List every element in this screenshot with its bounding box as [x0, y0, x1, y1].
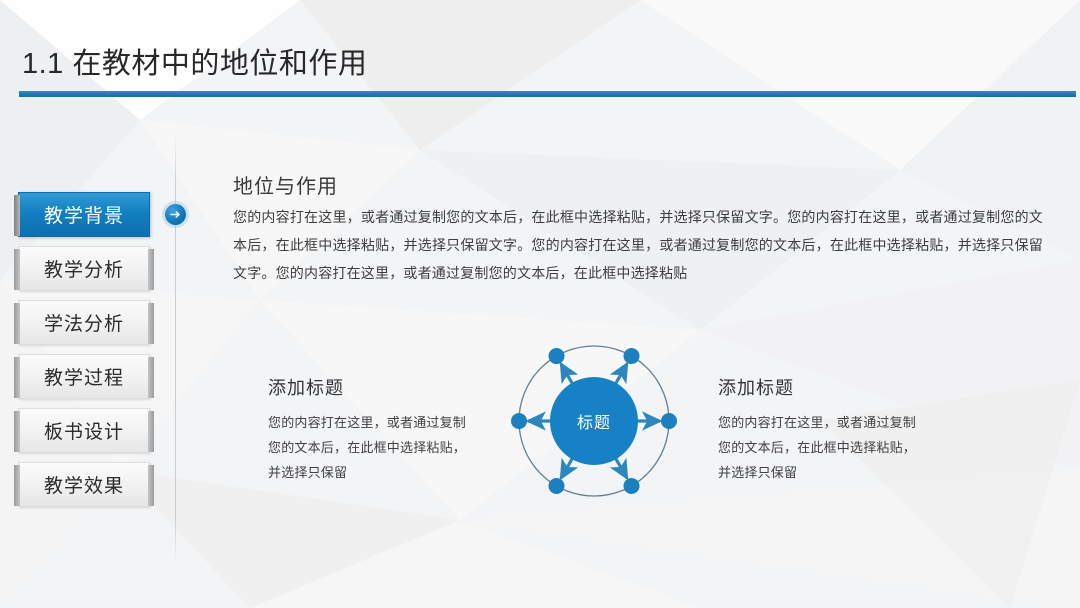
side-block-left: 添加标题 您的内容打在这里，或者通过复制您的文本后，在此框中选择粘贴，并选择只保… — [268, 374, 473, 485]
sidebar-item-blackboard-design[interactable]: 板书设计 — [18, 408, 150, 453]
title-underline-rule — [19, 91, 1076, 97]
sidebar-item-teaching-effect[interactable]: 教学效果 — [18, 462, 150, 507]
side-block-right-title: 添加标题 — [718, 374, 923, 400]
slide-canvas: 1.1 在教材中的地位和作用 教学背景 教学分析 学法分析 教学过程 板书设计 … — [0, 0, 1080, 608]
node-dot-120 — [549, 348, 565, 364]
node-dot-60 — [624, 348, 640, 364]
sidebar-item-teaching-background[interactable]: 教学背景 — [18, 192, 150, 237]
side-block-left-title: 添加标题 — [268, 374, 473, 400]
sidebar-item-label: 教学过程 — [44, 363, 124, 390]
node-dot-240 — [549, 478, 565, 494]
sidebar-item-teaching-process[interactable]: 教学过程 — [18, 354, 150, 399]
sidebar-item-label: 教学效果 — [44, 471, 124, 498]
hub-spoke-diagram-svg — [494, 321, 694, 521]
sidebar-item-label: 学法分析 — [44, 309, 124, 336]
sidebar-item-label: 教学分析 — [44, 255, 124, 282]
sidebar-item-learning-method-analysis[interactable]: 学法分析 — [18, 300, 150, 345]
node-dot-180 — [511, 413, 527, 429]
node-dot-300 — [624, 478, 640, 494]
side-block-right: 添加标题 您的内容打在这里，或者通过复制您的文本后，在此框中选择粘贴，并选择只保… — [718, 374, 923, 485]
arrow-right-icon — [169, 208, 182, 221]
side-block-left-body: 您的内容打在这里，或者通过复制您的文本后，在此框中选择粘贴，并选择只保留 — [268, 410, 473, 485]
hub-spoke-diagram: 标题 — [494, 321, 694, 521]
sidebar-nav: 教学背景 教学分析 学法分析 教学过程 板书设计 教学效果 — [18, 192, 158, 516]
center-circle — [550, 377, 638, 465]
page-title: 1.1 在教材中的地位和作用 — [22, 40, 367, 82]
content-paragraph: 您的内容打在这里，或者通过复制您的文本后，在此框中选择粘贴，并选择只保留文字。您… — [233, 203, 1043, 287]
sidebar-item-teaching-analysis[interactable]: 教学分析 — [18, 246, 150, 291]
side-block-right-body: 您的内容打在这里，或者通过复制您的文本后，在此框中选择粘贴，并选择只保留 — [718, 410, 923, 485]
sidebar-divider — [175, 134, 176, 566]
arrow-right-circle-icon[interactable] — [165, 204, 186, 225]
content-heading: 地位与作用 — [233, 170, 338, 199]
sidebar-item-label: 板书设计 — [44, 417, 124, 444]
node-dot-0 — [661, 413, 677, 429]
sidebar-item-label: 教学背景 — [44, 201, 124, 228]
